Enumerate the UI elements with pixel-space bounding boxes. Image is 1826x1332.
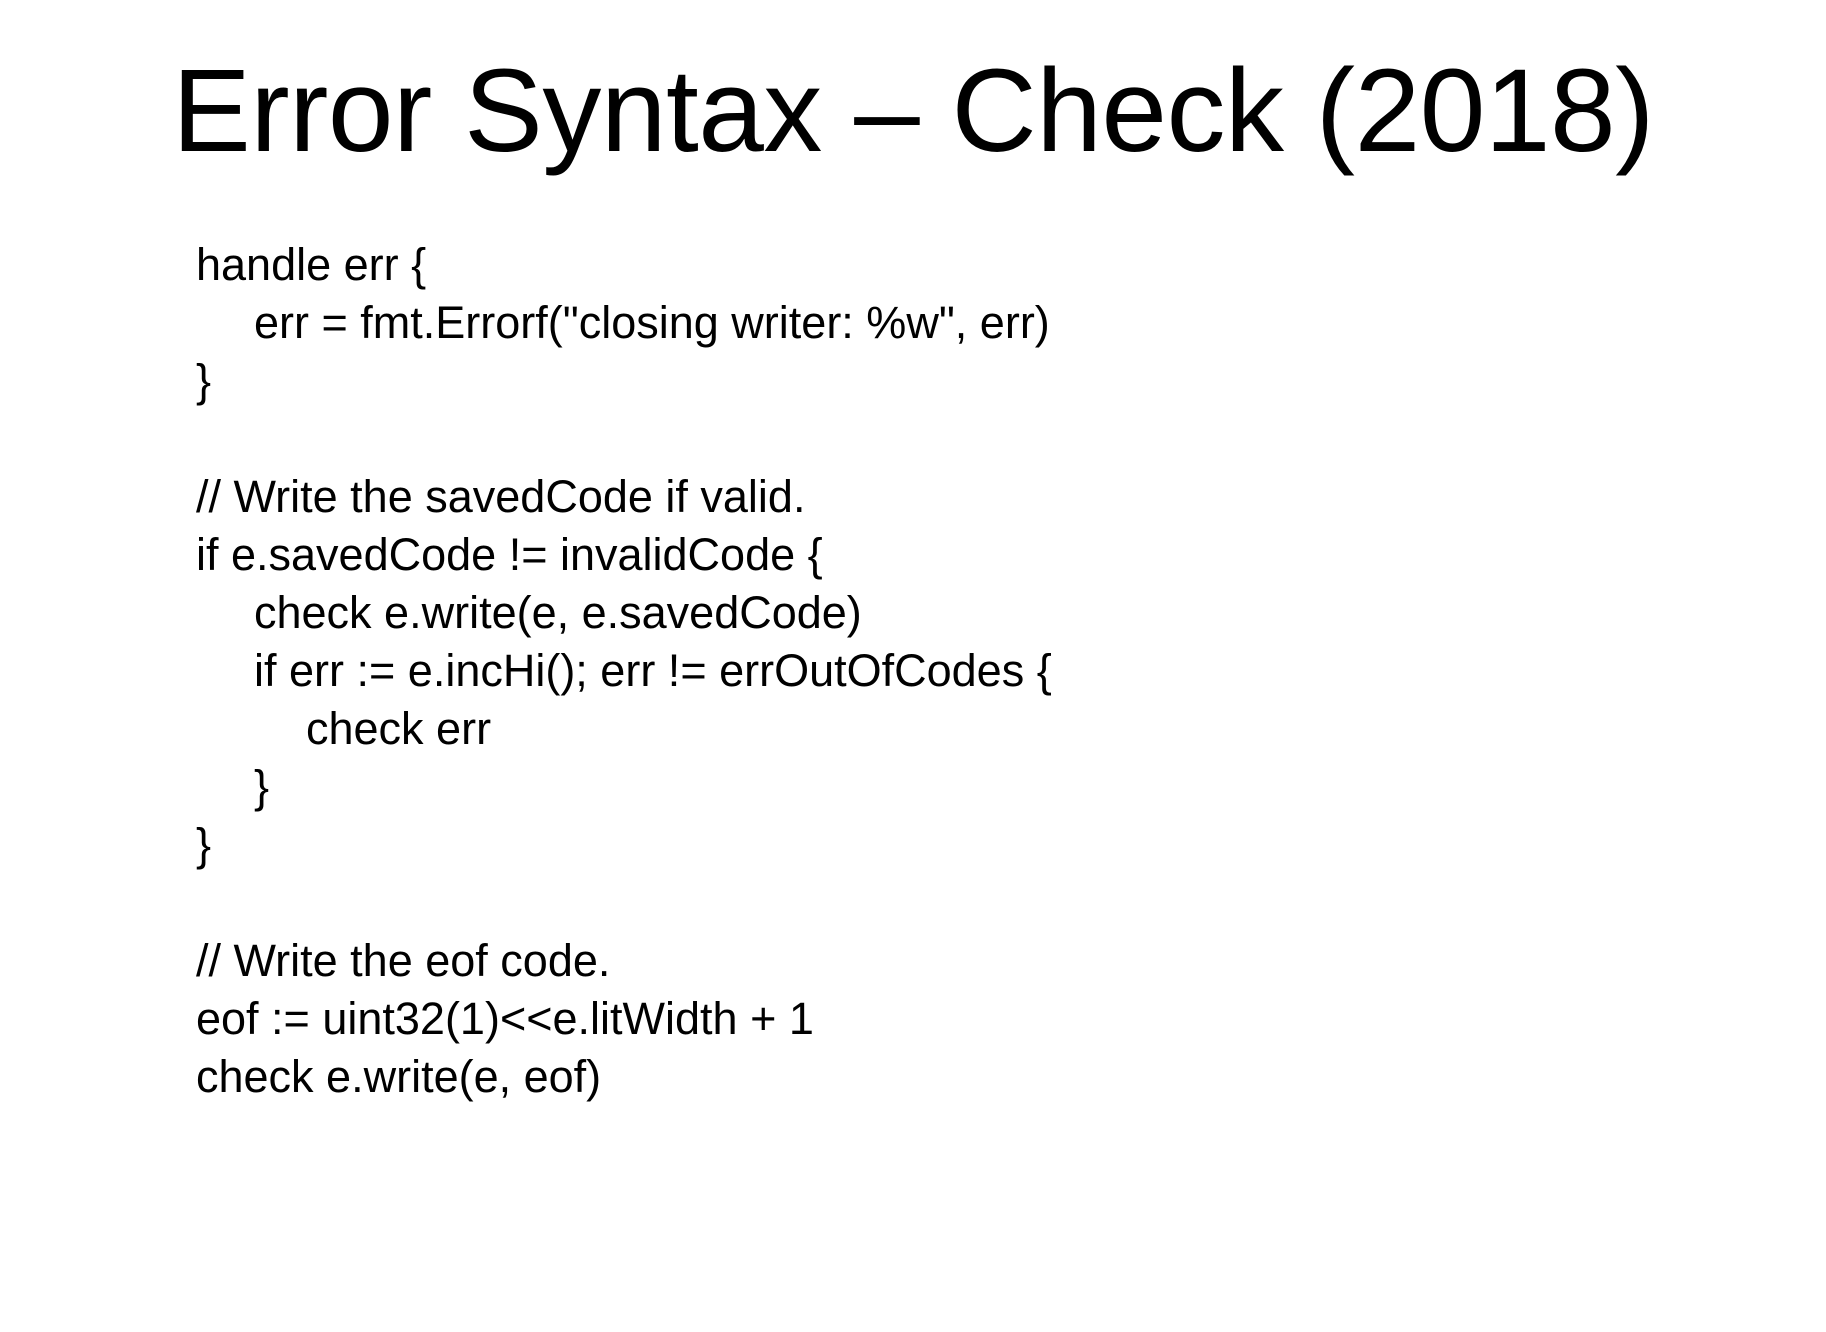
code-line: check err	[196, 700, 1786, 758]
code-line: // Write the eof code.	[196, 932, 1786, 990]
presentation-slide: Error Syntax – Check (2018) handle err {…	[0, 0, 1826, 1332]
code-block: handle err {err = fmt.Errorf("closing wr…	[196, 236, 1786, 1106]
code-line: }	[196, 352, 1786, 410]
code-line: }	[196, 816, 1786, 874]
code-line: check e.write(e, e.savedCode)	[196, 584, 1786, 642]
code-line: err = fmt.Errorf("closing writer: %w", e…	[196, 294, 1786, 352]
code-line: handle err {	[196, 236, 1786, 294]
code-line: eof := uint32(1)<<e.litWidth + 1	[196, 990, 1786, 1048]
slide-title: Error Syntax – Check (2018)	[0, 48, 1826, 175]
code-line-blank	[196, 410, 1786, 468]
code-line: // Write the savedCode if valid.	[196, 468, 1786, 526]
code-line: }	[196, 758, 1786, 816]
code-line-blank	[196, 874, 1786, 932]
code-line: if err := e.incHi(); err != errOutOfCode…	[196, 642, 1786, 700]
code-line: check e.write(e, eof)	[196, 1048, 1786, 1106]
code-line: if e.savedCode != invalidCode {	[196, 526, 1786, 584]
